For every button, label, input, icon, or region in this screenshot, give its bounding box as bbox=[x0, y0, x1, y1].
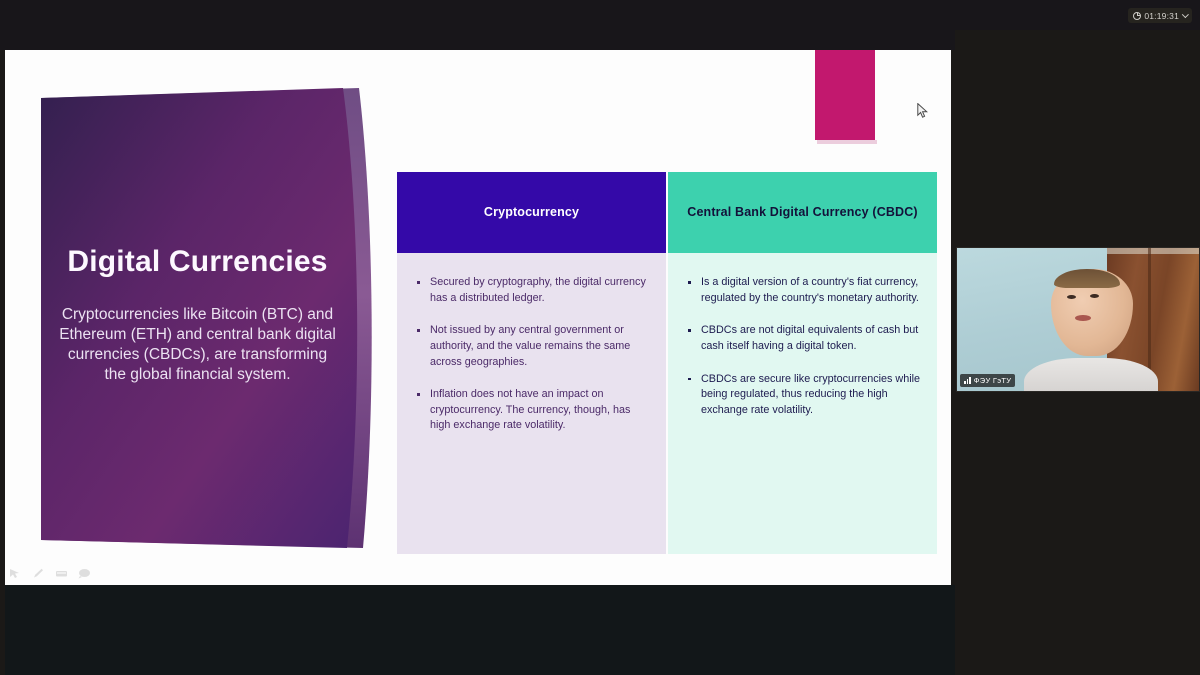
participant-name: ФЭУ ГэТУ bbox=[974, 376, 1012, 385]
table-column-cryptocurrency: Cryptocurrency Secured by cryptography, … bbox=[397, 172, 666, 554]
mouse-arrow-icon bbox=[917, 103, 928, 123]
pen-icon[interactable] bbox=[32, 568, 45, 579]
list-item: CBDCs are not digital equivalents of cas… bbox=[688, 323, 923, 354]
annotation-toolbar[interactable] bbox=[9, 568, 91, 579]
list-item: CBDCs are secure like cryptocurrencies w… bbox=[688, 372, 923, 419]
shared-slide[interactable]: Digital Currencies Cryptocurrencies like… bbox=[5, 50, 951, 585]
column-header-cryptocurrency: Cryptocurrency bbox=[397, 172, 666, 253]
participant-eye-right bbox=[1090, 294, 1099, 298]
clock-icon bbox=[1133, 12, 1141, 20]
meeting-timer[interactable]: 01:19:31 bbox=[1128, 8, 1192, 23]
column-body-cbdc: Is a digital version of a country's fiat… bbox=[668, 253, 937, 554]
laser-pointer-icon[interactable] bbox=[78, 568, 91, 579]
chevron-down-icon[interactable] bbox=[1182, 11, 1189, 18]
meeting-top-bar: 01:19:31 bbox=[0, 0, 1200, 30]
column-body-cryptocurrency: Secured by cryptography, the digital cur… bbox=[397, 253, 666, 554]
table-column-cbdc: Central Bank Digital Currency (CBDC) Is … bbox=[668, 172, 937, 554]
slide-subtitle: Cryptocurrencies like Bitcoin (BTC) and … bbox=[51, 305, 344, 384]
comparison-table: Cryptocurrency Secured by cryptography, … bbox=[397, 172, 937, 554]
participant-name-badge: ФЭУ ГэТУ bbox=[960, 374, 1015, 387]
list-item: Not issued by any central government or … bbox=[417, 323, 652, 370]
decorative-rectangle bbox=[815, 50, 875, 140]
participant-video-tile[interactable]: ФЭУ ГэТУ bbox=[956, 247, 1200, 392]
decorative-rectangle-shadow bbox=[817, 140, 877, 144]
screen-share-viewport: 01:19:31 bbox=[0, 0, 1200, 675]
participant-eye-left bbox=[1067, 295, 1076, 299]
participant-head bbox=[1051, 269, 1133, 356]
slide-title: Digital Currencies bbox=[53, 245, 341, 279]
eraser-icon[interactable] bbox=[55, 568, 68, 579]
participant-figure bbox=[1044, 261, 1155, 392]
list-item: Secured by cryptography, the digital cur… bbox=[417, 275, 652, 306]
list-item: Inflation does not have an impact on cry… bbox=[417, 387, 652, 434]
column-header-cbdc: Central Bank Digital Currency (CBDC) bbox=[668, 172, 937, 253]
stage-bottom-band bbox=[5, 585, 955, 675]
participant-torso bbox=[1024, 358, 1158, 392]
participant-mouth bbox=[1075, 315, 1091, 321]
participant-hair bbox=[1054, 269, 1120, 288]
video-background-door-frame bbox=[1107, 248, 1199, 254]
video-frame bbox=[957, 248, 1199, 391]
signal-bars-icon bbox=[964, 377, 971, 384]
title-panel-content: Digital Currencies Cryptocurrencies like… bbox=[41, 88, 366, 548]
pointer-icon[interactable] bbox=[9, 568, 22, 579]
meeting-timer-value: 01:19:31 bbox=[1144, 11, 1179, 21]
list-item: Is a digital version of a country's fiat… bbox=[688, 275, 923, 306]
